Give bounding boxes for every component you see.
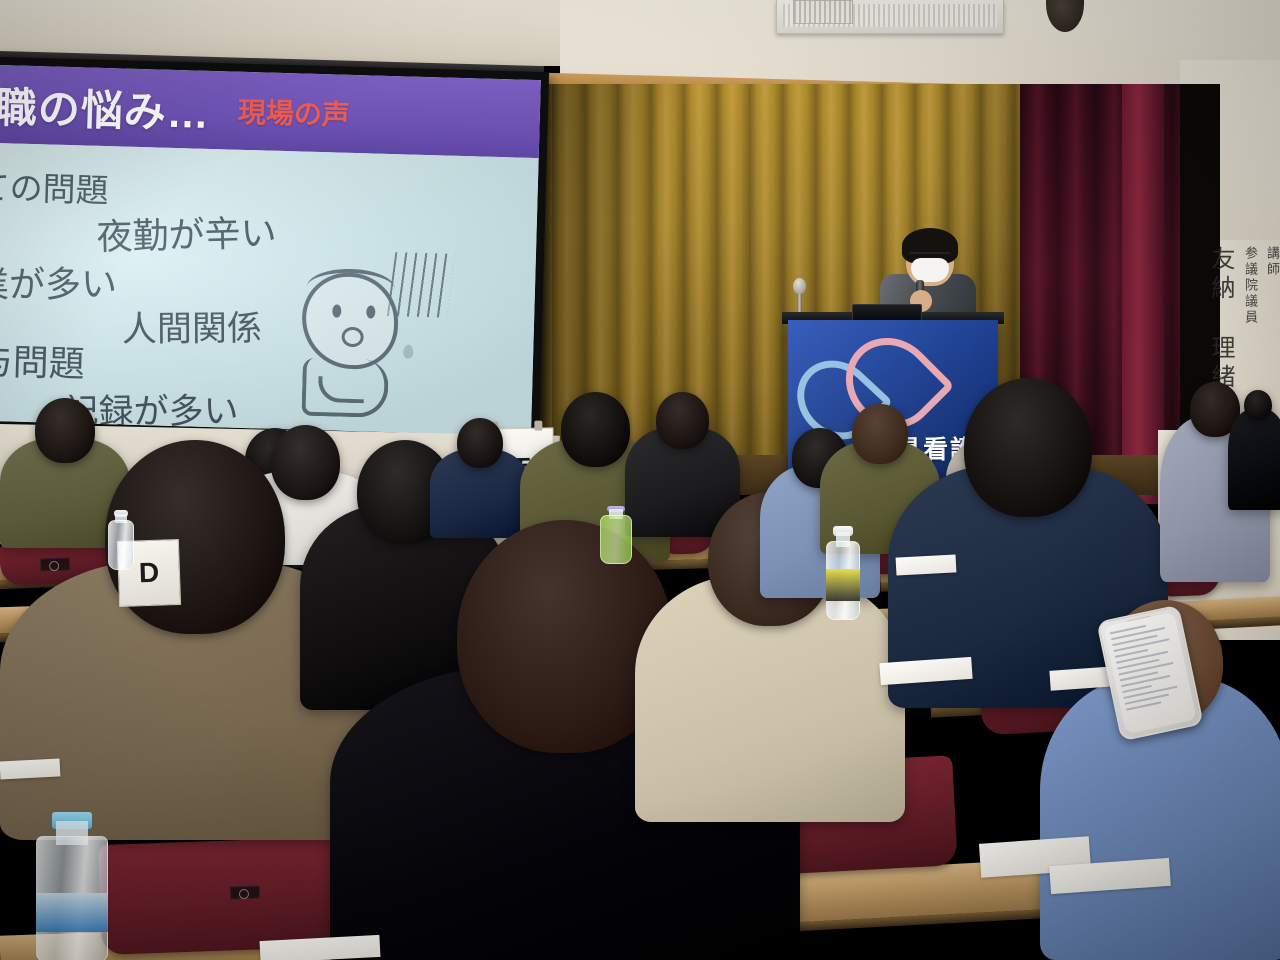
slide-worry-1: 育ての問題 xyxy=(0,160,109,213)
man-dark-suit-far-right xyxy=(1228,390,1280,510)
face-mask-icon xyxy=(911,258,949,282)
tea-bottle xyxy=(826,526,860,620)
slide-worry-5: 給与問題 xyxy=(0,332,86,388)
projection-screen: 護職の悩み… 現場の声 育ての問題 夜勤が辛い 残業が多い 人間関係 給与問題 … xyxy=(0,64,541,436)
row-sign-d-label: D xyxy=(138,557,159,590)
green-bottle xyxy=(600,506,632,564)
slide-worry-3: 残業が多い xyxy=(0,255,117,308)
woman-ponytail-dark-head xyxy=(656,392,709,449)
man-dark-suit-far-right-head xyxy=(1244,390,1272,420)
phone-screen[interactable] xyxy=(1103,612,1196,735)
slide-worry-2: 夜勤が辛い xyxy=(96,204,277,260)
slide-subtitle: 現場の声 xyxy=(237,91,350,134)
water-bottle xyxy=(108,510,134,570)
air-conditioner-vent xyxy=(776,0,1004,34)
handout-paper xyxy=(896,554,957,575)
slide-worry-4: 人間関係 xyxy=(122,300,262,352)
slide-header: 護職の悩み… 現場の声 xyxy=(0,64,541,158)
handout-paper xyxy=(0,758,60,779)
lecture-hall-photo: 県看護連盟 護職の悩み… 現場の声 育ての問題 夜勤が辛い 残業が多い 人間関係… xyxy=(0,0,1280,960)
woman-navy-top-head xyxy=(457,418,503,468)
tired-nurse-doodle-icon xyxy=(281,261,435,425)
man-navy-sweater-right-head xyxy=(964,378,1093,517)
man-dark-suit-far-right-torso xyxy=(1228,409,1280,510)
slide-title: 護職の悩み… xyxy=(0,72,211,140)
water-bottle xyxy=(36,812,108,960)
laptop-icon xyxy=(852,304,922,321)
man-olive-hoodie-head xyxy=(561,392,630,467)
slide-body: 育ての問題 夜勤が辛い 残業が多い 人間関係 給与問題 記録が多い …などなど他… xyxy=(0,142,539,436)
